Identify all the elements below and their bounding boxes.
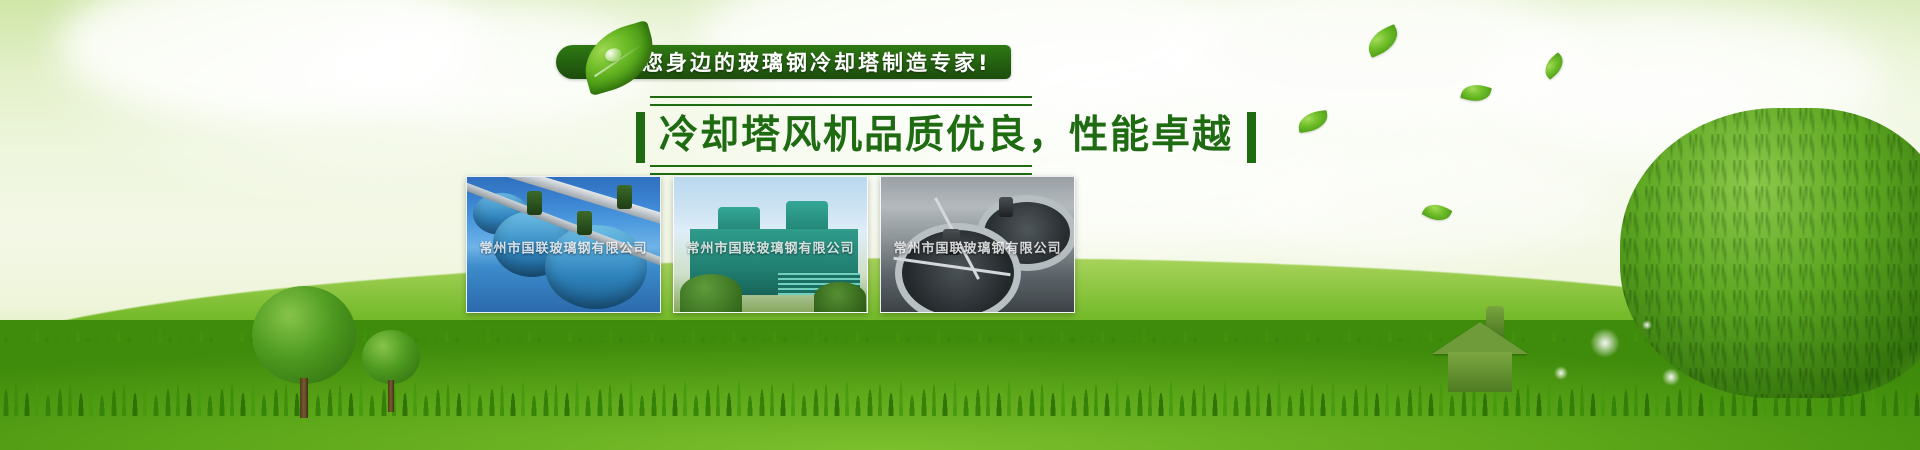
tree-trunk: [300, 378, 308, 418]
photo-watermark: 常州市国联玻璃钢有限公司: [674, 238, 867, 257]
leaf-icon: [575, 20, 662, 96]
tagline-ribbon: 您身边的玻璃钢冷却塔制造专家!: [556, 42, 1011, 82]
floating-leaf-icon: [1363, 24, 1403, 58]
headline-row: 冷却塔风机品质优良，性能卓越: [636, 112, 1256, 163]
headline-block: 冷却塔风机品质优良，性能卓越: [636, 96, 1256, 175]
headline-bar-left: [636, 112, 645, 163]
photo-grey-counterflow-cooling-towers[interactable]: 常州市国联玻璃钢有限公司: [880, 176, 1075, 313]
house-body: [1448, 352, 1512, 392]
house-roof: [1432, 322, 1528, 354]
photo-watermark: 常州市国联玻璃钢有限公司: [467, 238, 660, 257]
fan-motor: [617, 185, 632, 209]
fan-motor: [577, 211, 592, 235]
dew-drop-icon: [603, 46, 623, 63]
photo-green-cooling-tower-plant[interactable]: 常州市国联玻璃钢有限公司: [673, 176, 868, 313]
sparkle-icon: [1590, 328, 1620, 358]
photo-strip: 常州市国联玻璃钢有限公司 常州市国联玻璃钢有限公司 常州市国联玻璃钢有限公司: [466, 176, 1075, 313]
floating-leaf-icon: [1422, 199, 1453, 226]
foreground-bush: [814, 282, 866, 312]
cloud-wisp: [60, 0, 480, 120]
photo-blue-frp-cooling-towers[interactable]: 常州市国联玻璃钢有限公司: [466, 176, 661, 313]
grass-house-icon: [1432, 306, 1528, 392]
sparkle-icon: [1642, 320, 1652, 330]
floating-leaf-icon: [1297, 110, 1329, 133]
floating-leaf-icon: [1540, 52, 1569, 80]
tree-crown-icon: [252, 286, 356, 384]
tree-trunk: [388, 380, 394, 412]
sparkle-icon: [1554, 366, 1568, 380]
cloud-wisp: [1240, 150, 1600, 260]
foreground-bush: [680, 274, 742, 312]
tagline-text: 您身边的玻璃钢冷却塔制造专家!: [642, 47, 991, 77]
floating-leaf-icon: [1460, 80, 1492, 105]
headline-bar-right: [1247, 112, 1256, 163]
tree-small: [362, 330, 420, 384]
tree-large: [252, 286, 356, 384]
fan-motor: [999, 197, 1013, 217]
headline-rule-bottom: [650, 165, 1032, 175]
grass-topiary-bush: [1620, 108, 1920, 398]
tree-crown-icon: [362, 330, 420, 384]
photo-watermark: 常州市国联玻璃钢有限公司: [881, 238, 1074, 257]
headline-text: 冷却塔风机品质优良，性能卓越: [659, 112, 1233, 163]
sparkle-icon: [1662, 368, 1680, 386]
headline-rule-top: [650, 96, 1032, 106]
hero-banner: 您身边的玻璃钢冷却塔制造专家! 冷却塔风机品质优良，性能卓越 常州市国联玻璃钢有…: [0, 0, 1920, 450]
fan-motor: [527, 191, 542, 215]
